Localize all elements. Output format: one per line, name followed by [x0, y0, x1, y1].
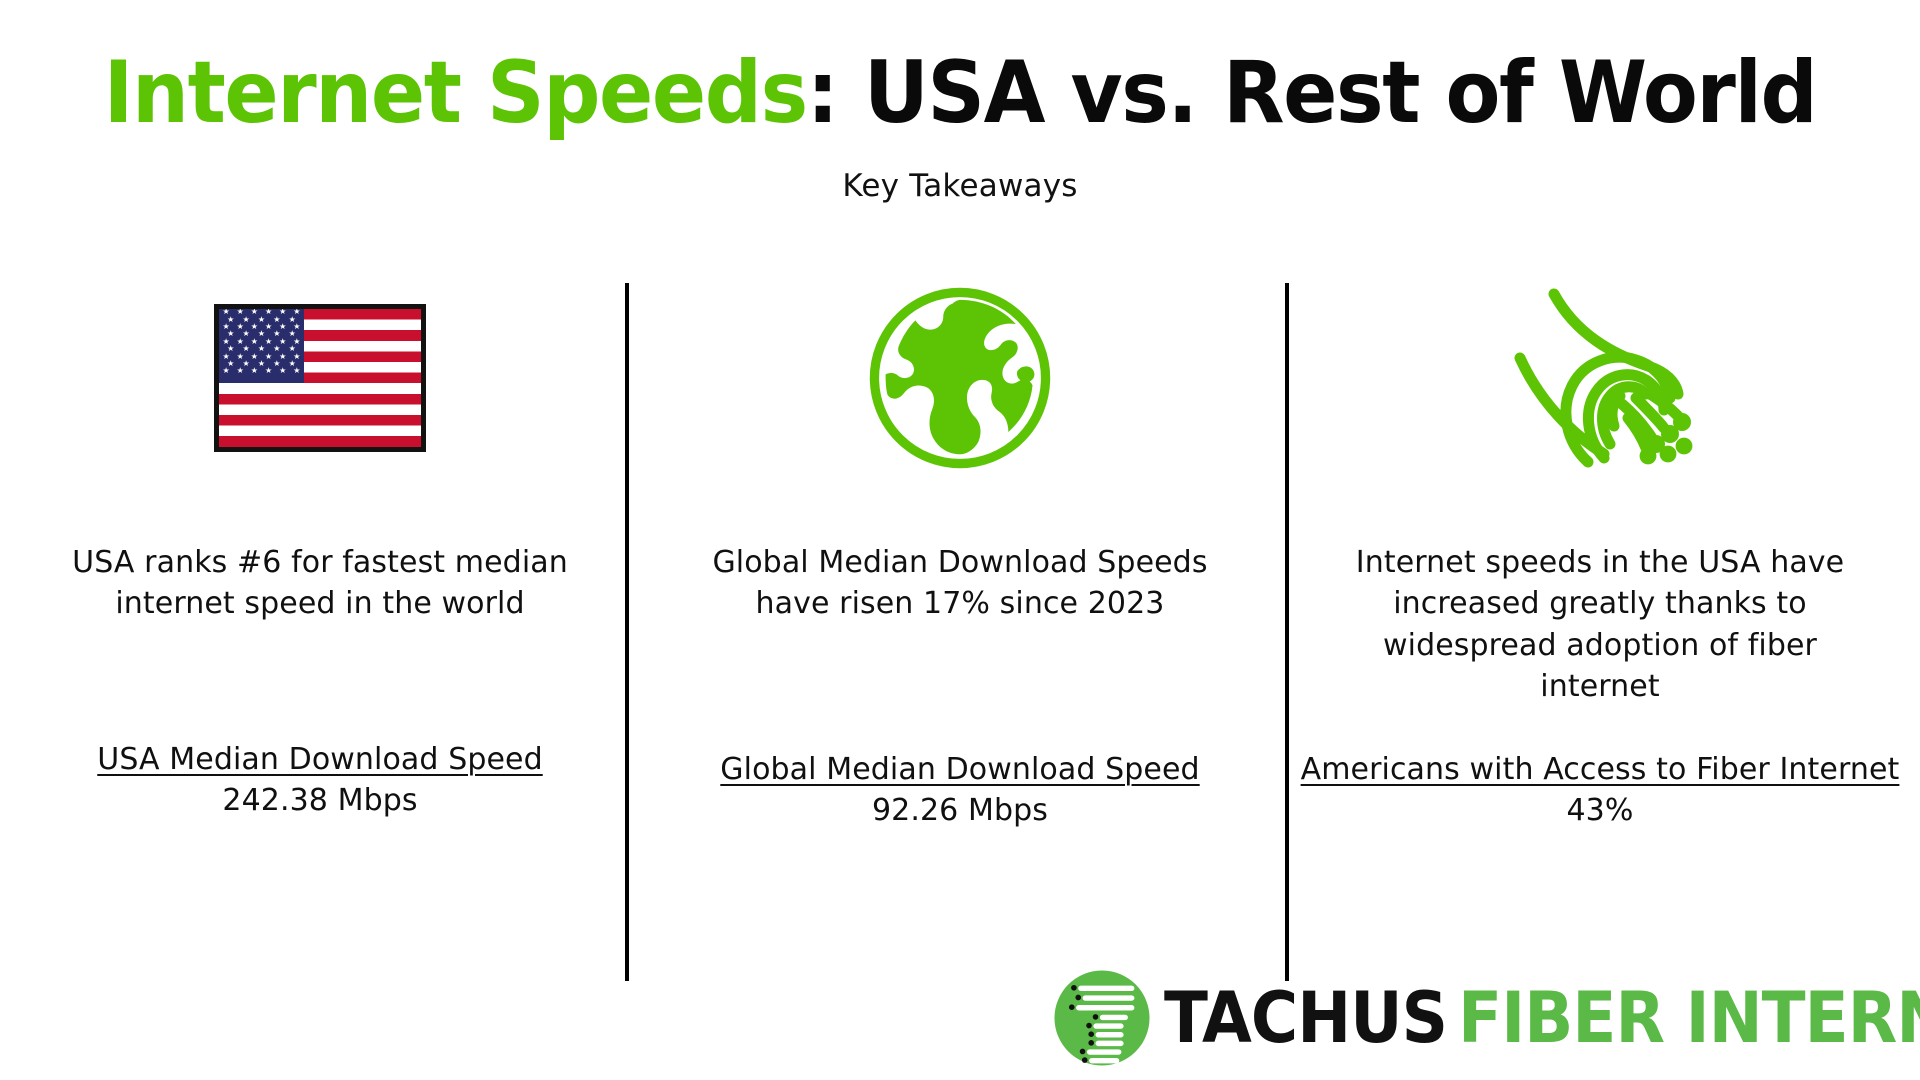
tachus-circle-mark-icon: [1048, 964, 1156, 1072]
page-title-accent: Internet Speeds: [104, 43, 807, 143]
stat-block-global: Global Median Download Speed 92.26 Mbps: [660, 750, 1260, 832]
stat-label-usa: USA Median Download Speed: [20, 740, 620, 781]
stat-block-fiber: Americans with Access to Fiber Internet …: [1300, 750, 1900, 832]
takeaway-column-global: Global Median Download Speeds have risen…: [640, 275, 1280, 708]
tachus-wordmark: TACHUS FIBER INTERNET: [1164, 983, 1920, 1053]
takeaways-columns: ★★★★★★ ★★★★★ ★★★★★★ ★★★★★ ★★★★★★ ★★★★★ ★…: [0, 275, 1920, 708]
fiber-optic-icon: [1500, 275, 1700, 480]
takeaway-column-usa: ★★★★★★ ★★★★★ ★★★★★★ ★★★★★ ★★★★★★ ★★★★★ ★…: [0, 275, 640, 708]
stat-value-usa: 242.38 Mbps: [20, 781, 620, 822]
takeaway-body-usa: USA ranks #6 for fastest median internet…: [68, 542, 573, 625]
stat-block-usa: USA Median Download Speed 242.38 Mbps: [20, 740, 620, 822]
globe-graphic: [867, 285, 1053, 471]
tachus-logo: TACHUS FIBER INTERNET: [1048, 962, 1920, 1074]
stat-value-global: 92.26 Mbps: [660, 791, 1260, 832]
stat-label-global: Global Median Download Speed: [660, 750, 1260, 791]
tachus-brand-name: TACHUS: [1164, 983, 1447, 1053]
usa-flag-graphic: ★★★★★★ ★★★★★ ★★★★★★ ★★★★★ ★★★★★★ ★★★★★ ★…: [214, 304, 426, 452]
globe-icon: [867, 275, 1053, 480]
takeaway-column-fiber: Internet speeds in the USA have increase…: [1280, 275, 1920, 708]
stat-value-fiber: 43%: [1300, 791, 1900, 832]
tachus-tagline: FIBER INTERNET: [1458, 983, 1920, 1053]
fiber-optic-graphic: [1500, 278, 1700, 478]
page-title: Internet Speeds: USA vs. Rest of World: [67, 48, 1853, 138]
takeaway-body-fiber: Internet speeds in the USA have increase…: [1323, 542, 1878, 708]
takeaway-body-global: Global Median Download Speeds have risen…: [708, 542, 1213, 625]
usa-flag-icon: ★★★★★★ ★★★★★ ★★★★★★ ★★★★★ ★★★★★★ ★★★★★ ★…: [214, 275, 426, 480]
flag-canton: ★★★★★★ ★★★★★ ★★★★★★ ★★★★★ ★★★★★★ ★★★★★ ★…: [219, 309, 304, 383]
page-subtitle: Key Takeaways: [0, 168, 1920, 204]
page-title-rest: : USA vs. Rest of World: [807, 43, 1817, 143]
stat-label-fiber: Americans with Access to Fiber Internet: [1300, 750, 1900, 791]
